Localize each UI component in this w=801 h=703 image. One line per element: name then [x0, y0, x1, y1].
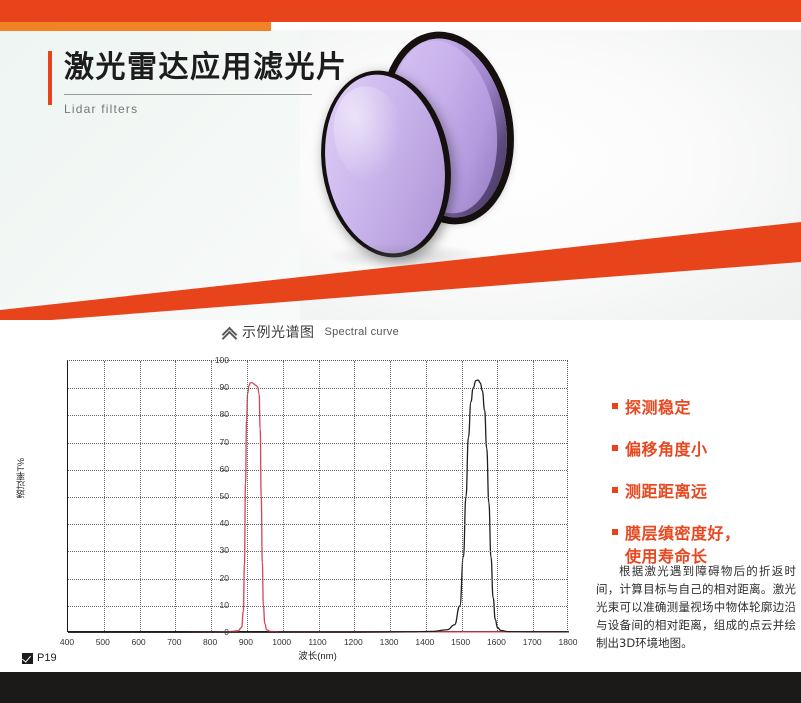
- page-title: 激光雷达应用滤光片: [64, 48, 378, 88]
- feature-item: 测距距离远: [612, 480, 797, 503]
- bullet-square-icon: [612, 403, 618, 409]
- chart-gridline-h: [68, 551, 567, 552]
- chart-y-tick-label: 70: [189, 437, 229, 447]
- footer-bar: [0, 672, 801, 703]
- chart-gridline-v: [354, 361, 355, 631]
- legend-label: P19: [37, 652, 57, 664]
- chart-y-tick-label: 10: [189, 600, 229, 610]
- top-orange-bar: [0, 22, 271, 31]
- chart-gridline-v: [533, 361, 534, 631]
- chart-gridline-h: [68, 606, 567, 607]
- chart-gridline-h: [68, 524, 567, 525]
- chart-y-axis-label: 透过率T%: [14, 458, 28, 499]
- chart-x-axis-label: 波长(nm): [67, 648, 568, 662]
- chart-gridline-v: [104, 361, 105, 631]
- feature-list: 探测稳定偏移角度小测距距离远膜层缜密度好，使用寿命长: [612, 396, 797, 587]
- chart-gridline-v: [247, 361, 248, 631]
- title-divider: [64, 94, 312, 95]
- chart-y-tick-label: 30: [189, 545, 229, 555]
- chart-y-tick-label: 80: [189, 409, 229, 419]
- chart-gridline-h: [68, 388, 567, 389]
- description-text: 根据激光遇到障碍物后的折返时间，计算目标与自己的相对距离。激光光束可以准确测量视…: [596, 562, 796, 652]
- hero-banner: 激光雷达应用滤光片 Lidar filters: [0, 0, 801, 320]
- chart-gridline-v: [140, 361, 141, 631]
- chart-y-tick-label: 50: [189, 491, 229, 501]
- chart-plot-area: [67, 360, 568, 632]
- chart-y-tick-label: 90: [189, 382, 229, 392]
- title-accent-bar: [48, 51, 52, 105]
- chart-gridline-h: [68, 443, 567, 444]
- page-subtitle: Lidar filters: [64, 102, 378, 116]
- chart-gridline-v: [319, 361, 320, 631]
- chart-gridline-h: [68, 579, 567, 580]
- chart-y-tick-label: 100: [189, 355, 229, 365]
- section-heading: 示例光谱图 Spectral curve: [222, 322, 399, 342]
- page-root: 激光雷达应用滤光片 Lidar filters 示例光谱图 Spectral c…: [0, 0, 801, 703]
- chevron-up-icon: [222, 325, 237, 340]
- chart-y-tick-label: 0: [189, 627, 229, 637]
- chart-gridline-v: [426, 361, 427, 631]
- bullet-square-icon: [612, 487, 618, 493]
- chart-gridline-v: [175, 361, 176, 631]
- chart-gridline-h: [68, 415, 567, 416]
- chart-gridline-h: [68, 497, 567, 498]
- chart-y-tick-label: 20: [189, 573, 229, 583]
- section-title-en: Spectral curve: [325, 326, 400, 338]
- chart-x-tick-label: 1800: [543, 637, 593, 647]
- chart-gridline-v: [462, 361, 463, 631]
- chart-y-tick-label: 60: [189, 464, 229, 474]
- legend-checkbox-icon[interactable]: [22, 653, 33, 664]
- feature-label: 探测稳定: [625, 396, 691, 419]
- chart-y-tick-label: 40: [189, 518, 229, 528]
- feature-item: 偏移角度小: [612, 438, 797, 461]
- feature-label: 偏移角度小: [625, 438, 708, 461]
- bullet-square-icon: [612, 529, 618, 535]
- bullet-square-icon: [612, 445, 618, 451]
- chart-legend-item[interactable]: P19: [22, 652, 57, 664]
- feature-label: 测距距离远: [625, 480, 708, 503]
- section-title-cn: 示例光谱图: [242, 322, 315, 342]
- banner-title-block: 激光雷达应用滤光片 Lidar filters: [48, 48, 378, 116]
- chart-gridline-v: [283, 361, 284, 631]
- chart-gridline-h: [68, 470, 567, 471]
- chart-gridline-v: [497, 361, 498, 631]
- feature-item: 探测稳定: [612, 396, 797, 419]
- chart-gridline-v: [390, 361, 391, 631]
- top-red-bar: [0, 0, 801, 22]
